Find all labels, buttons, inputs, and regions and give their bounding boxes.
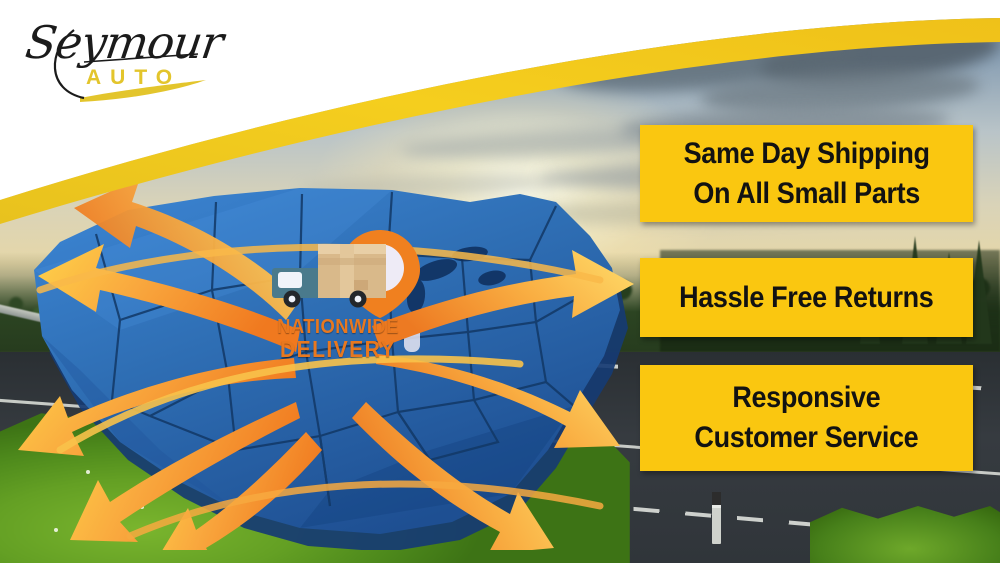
feature-text: Hassle Free Returns: [679, 278, 933, 318]
feature-box-hassle-free-returns[interactable]: Hassle Free Returns: [640, 258, 973, 337]
delivery-line-2: DELIVERY: [268, 338, 408, 360]
logo-subtext: AUTO: [86, 66, 181, 90]
feature-box-same-day-shipping[interactable]: Same Day Shipping On All Small Parts: [640, 125, 973, 222]
feature-text: Responsive Customer Service: [695, 378, 919, 458]
nationwide-delivery-graphic: NATIONWIDE DELIVERY: [262, 228, 437, 376]
logo-wordmark: Seymour: [22, 16, 226, 69]
brand-logo[interactable]: Seymour AUTO: [22, 10, 222, 105]
delivery-truck-icon: [272, 244, 386, 308]
nationwide-delivery-label: NATIONWIDE DELIVERY: [268, 316, 408, 360]
promo-banner: NATIONWIDE DELIVERY Seymour AUTO: [0, 0, 1000, 563]
delivery-line-1: NATIONWIDE: [268, 316, 408, 338]
roadside-post: [712, 492, 721, 544]
feature-box-responsive-customer-service[interactable]: Responsive Customer Service: [640, 365, 973, 471]
feature-text: Same Day Shipping On All Small Parts: [684, 134, 930, 214]
